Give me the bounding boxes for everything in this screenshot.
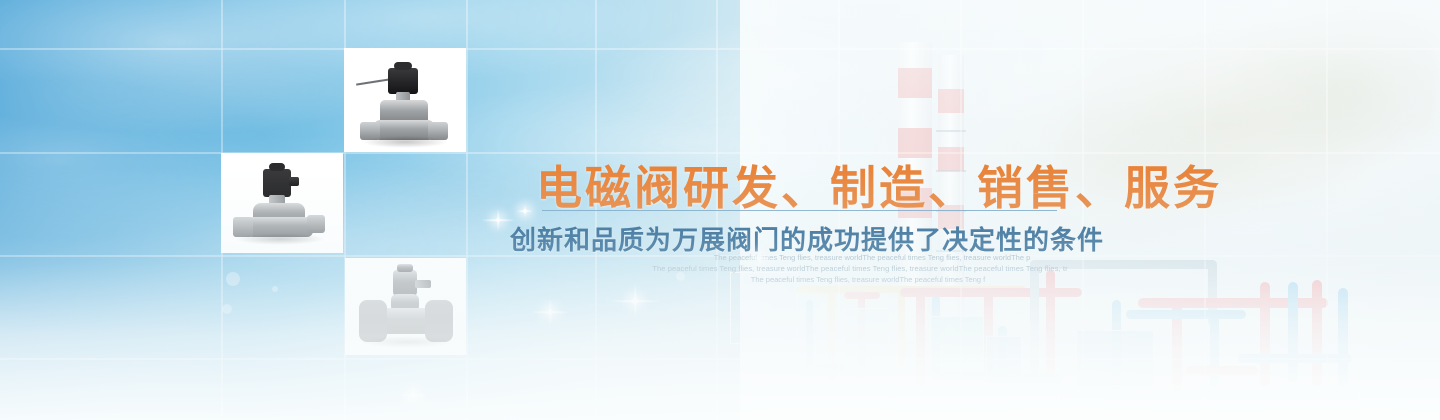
hero-banner: 电磁阀研发、制造、销售、服务 创新和品质为万展阀门的成功提供了决定性的条件 Th… [0,0,1440,420]
product-tile-3[interactable] [345,258,466,355]
blurb-line-3: The peaceful times Teng flies, treasure … [630,274,1090,285]
solenoid-valve-brass-angle [221,153,343,253]
solenoid-valve-flanged [345,258,466,355]
sparkle-icon-6 [398,380,428,410]
bokeh-dot-4 [676,272,685,281]
sparkle-icon-1 [520,206,530,216]
bokeh-dot-1 [226,272,240,286]
solenoid-valve-threaded-black-coil [344,48,466,152]
bokeh-dot-3 [272,286,278,292]
banner-headline: 电磁阀研发、制造、销售、服务 [536,152,1222,218]
sparkle-icon-3 [530,292,570,332]
bokeh-dot-5 [820,302,827,309]
headline-divider [542,210,1057,211]
banner-blurb: The peaceful times Teng flies, treasure … [630,252,1090,285]
bokeh-dot-2 [222,304,232,314]
product-tile-1[interactable] [344,48,466,152]
product-tile-2[interactable] [221,153,343,253]
blurb-line-1: The peaceful times Teng flies, treasure … [630,252,1090,263]
blurb-line-2: The peaceful times Teng flies, treasure … [630,263,1090,274]
